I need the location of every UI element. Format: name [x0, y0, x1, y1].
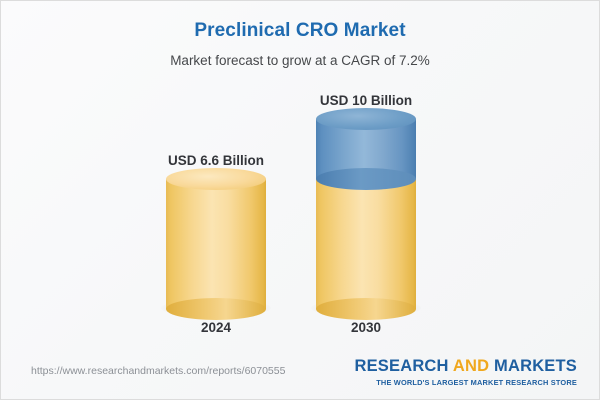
bar-segment-growth-2030: [316, 119, 416, 179]
segment-bottom-ellipse: [316, 298, 416, 320]
research-and-markets-logo[interactable]: RESEARCH AND MARKETS THE WORLD'S LARGEST…: [354, 356, 577, 388]
logo-word-markets: MARKETS: [494, 357, 577, 375]
segment-body: [316, 179, 416, 309]
logo-tagline: THE WORLD'S LARGEST MARKET RESEARCH STOR…: [354, 378, 577, 388]
logo-word-research: RESEARCH: [354, 357, 448, 375]
segment-top-ellipse: [316, 108, 416, 130]
segment-top-ellipse: [166, 168, 266, 190]
bar-segment-base-2030: [316, 179, 416, 309]
chart-plot-area: USD 6.6 Billion 2024 USD 10 Billion: [1, 1, 600, 346]
cylinder-2024: [166, 179, 266, 309]
logo-word-and: AND: [453, 357, 489, 375]
bar-segment-base-2024: [166, 179, 266, 309]
category-label-2030: 2030: [291, 319, 441, 337]
segment-bottom-ellipse: [166, 298, 266, 320]
segment-bottom-ellipse: [316, 168, 416, 190]
footer: https://www.researchandmarkets.com/repor…: [1, 346, 600, 399]
logo-wordmark: RESEARCH AND MARKETS: [354, 356, 577, 376]
segment-body: [166, 179, 266, 309]
infographic-card: Preclinical CRO Market Market forecast t…: [0, 0, 600, 400]
category-label-2024: 2024: [141, 319, 291, 337]
cylinder-2030: [316, 119, 416, 309]
report-url[interactable]: https://www.researchandmarkets.com/repor…: [31, 364, 285, 378]
